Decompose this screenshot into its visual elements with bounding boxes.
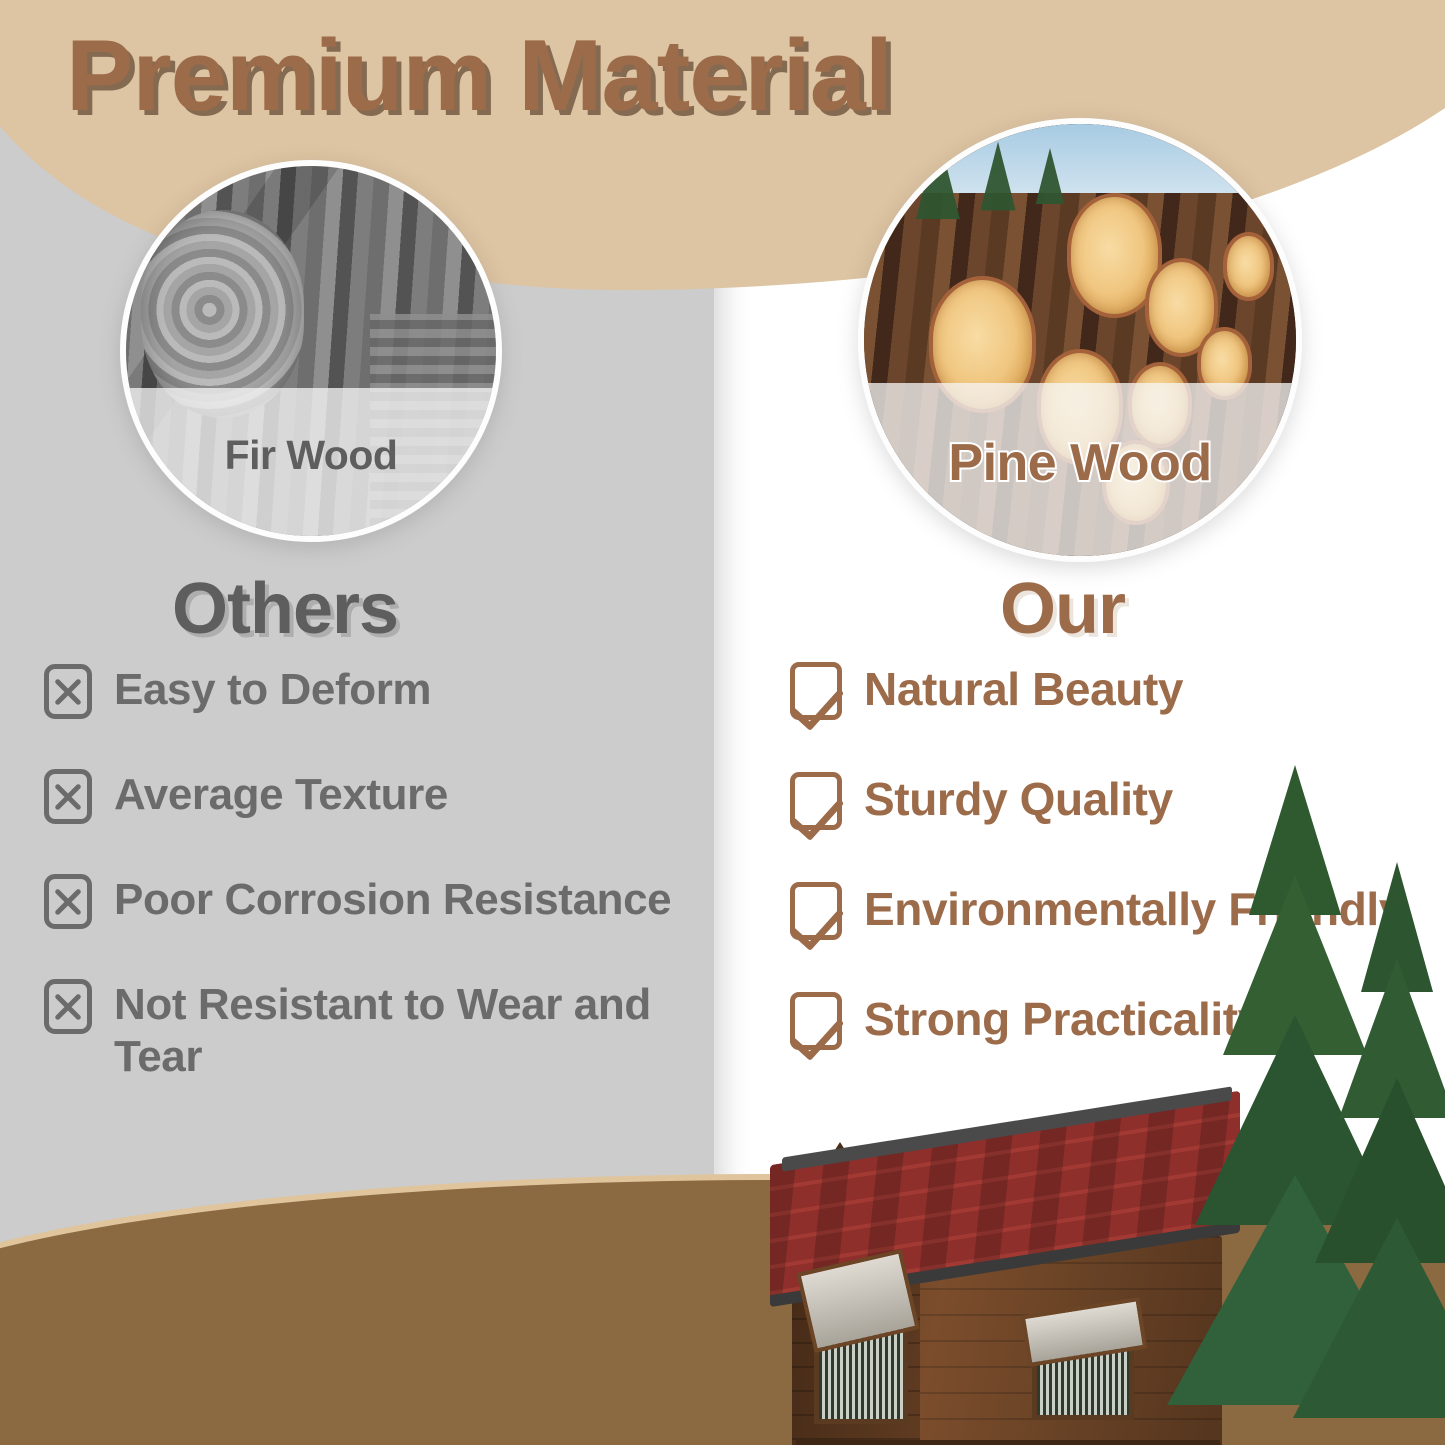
log-end-icon [1071, 197, 1157, 314]
page-title: Premium Material [66, 22, 892, 131]
list-item: Not Resistant to Wear and Tear [44, 977, 724, 1083]
list-item: Poor Corrosion Resistance [44, 872, 724, 929]
pine-wood-caption: Pine Wood [948, 433, 1211, 493]
list-item-label: Average Texture [114, 767, 448, 821]
log-end-icon [1149, 262, 1214, 353]
fir-wood-photo-circle: Fir Wood [120, 160, 502, 542]
log-end-icon [1227, 236, 1270, 296]
others-feature-list: Easy to Deform Average Texture Poor Corr… [44, 662, 724, 1131]
x-mark-icon [44, 979, 92, 1034]
x-mark-icon [44, 664, 92, 719]
list-item-label: Poor Corrosion Resistance [114, 872, 671, 926]
check-mark-icon [790, 992, 842, 1050]
fir-wood-caption: Fir Wood [225, 432, 398, 479]
list-item: Average Texture [44, 767, 724, 824]
check-mark-icon [790, 882, 842, 940]
dog-house-base [796, 1440, 1220, 1445]
x-mark-icon [44, 769, 92, 824]
list-item: Easy to Deform [44, 662, 724, 719]
pine-wood-caption-band: Pine Wood [864, 383, 1296, 556]
photo-tree-icon [981, 141, 1016, 210]
our-heading: Our [1000, 568, 1125, 650]
pine-tree-icon [1272, 862, 1445, 1407]
others-heading: Others [172, 568, 398, 650]
photo-tree-icon [916, 133, 960, 219]
list-item-label: Not Resistant to Wear and Tear [114, 977, 674, 1083]
list-item-label: Easy to Deform [114, 662, 431, 716]
pine-wood-photo-circle: Pine Wood [858, 118, 1302, 562]
list-item-label: Sturdy Quality [864, 770, 1173, 826]
premium-material-infographic: Premium Material Fir Wood Pine Wood Othe… [0, 0, 1445, 1445]
fir-wood-caption-band: Fir Wood [126, 388, 496, 536]
x-mark-icon [44, 874, 92, 929]
check-mark-icon [790, 772, 842, 830]
list-item-label: Natural Beauty [864, 660, 1183, 716]
check-mark-icon [790, 662, 842, 720]
photo-tree-icon [1036, 148, 1065, 204]
list-item: Natural Beauty [790, 660, 1440, 720]
